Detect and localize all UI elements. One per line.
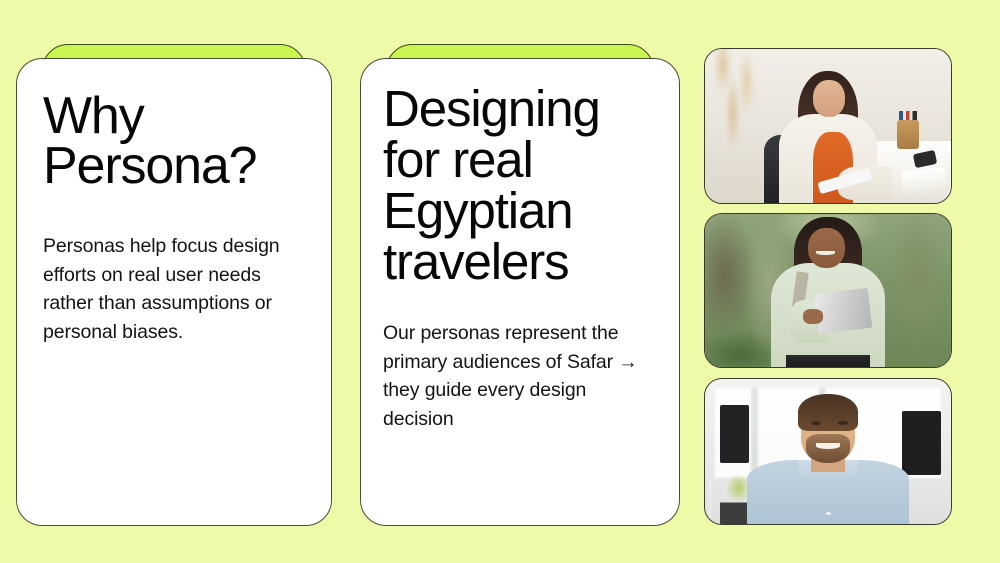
photo-office-man-scene (705, 379, 951, 524)
photo-office-woman (704, 48, 952, 204)
card-title-designing: Designing for real Egyptian travelers (383, 83, 657, 287)
card-surface: Designing for real Egyptian travelers Ou… (360, 58, 680, 526)
card-why-persona: Why Persona? Personas help focus design … (16, 44, 332, 526)
card-title-why-persona: Why Persona? (43, 91, 305, 192)
card-designing-for-real-egyptian-travelers: Designing for real Egyptian travelers Ou… (360, 44, 680, 526)
photo-student-woman (704, 213, 952, 368)
slide-canvas: Why Persona? Personas help focus design … (0, 0, 1000, 563)
card-surface: Why Persona? Personas help focus design … (16, 58, 332, 526)
photo-office-man: Shutterstock (704, 378, 952, 525)
photo-student-woman-scene (705, 214, 951, 367)
card-body-designing: Our personas represent the primary audie… (383, 319, 651, 434)
photo-office-woman-scene (705, 49, 951, 203)
card-body-why-persona: Personas help focus design efforts on re… (43, 232, 305, 347)
